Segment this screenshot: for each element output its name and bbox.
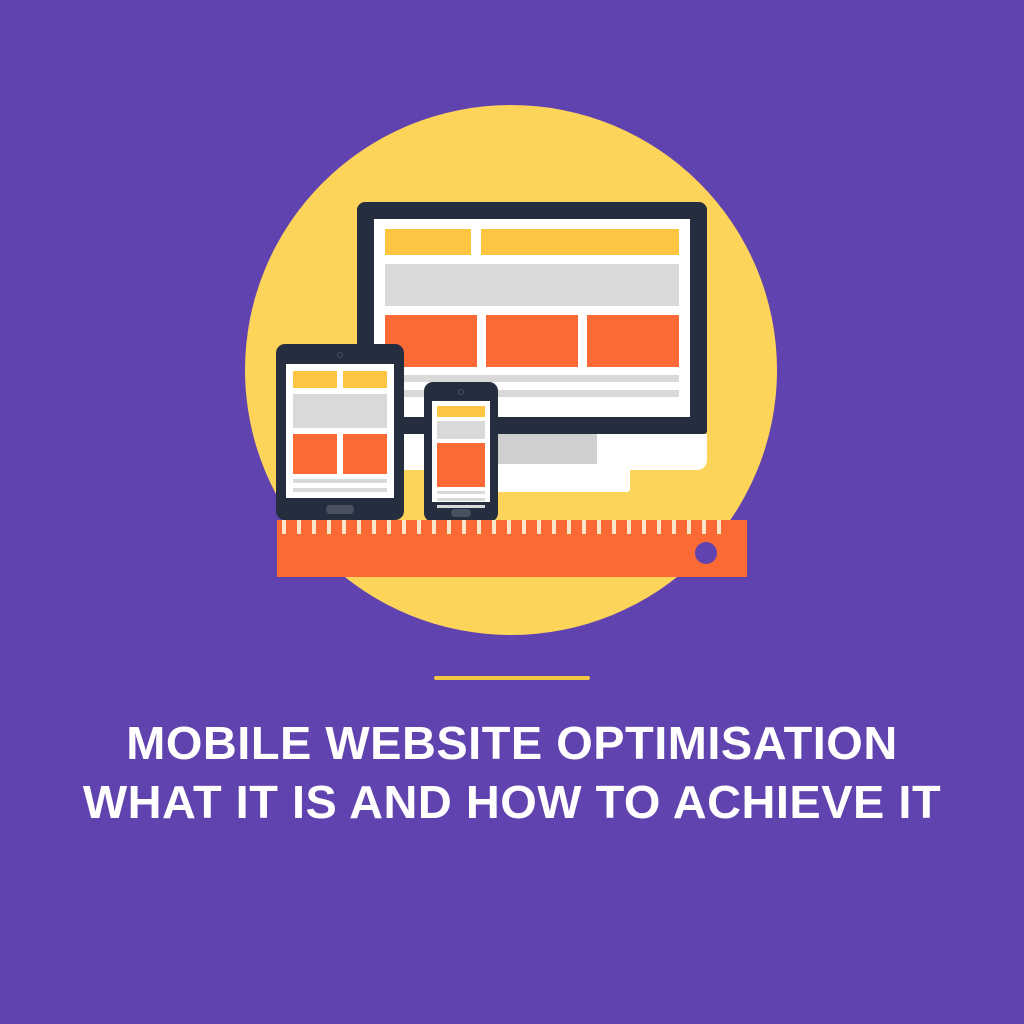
monitor-top-bar-row	[385, 229, 679, 255]
ruler-tick	[492, 520, 496, 534]
tablet-card-row	[293, 434, 387, 474]
gold-divider-rule	[434, 676, 590, 680]
orange-card-2	[343, 434, 387, 474]
ruler-tick	[402, 520, 406, 534]
home-button-icon	[451, 509, 471, 517]
gray-text-line-2	[293, 488, 387, 492]
ruler-tick	[342, 520, 346, 534]
ruler-tick	[417, 520, 421, 534]
poster-canvas: MOBILE WEBSITE OPTIMISATION WHAT IT IS A…	[0, 0, 1024, 1024]
ruler-tick	[462, 520, 466, 534]
ruler-tick	[477, 520, 481, 534]
yellow-bar-wide	[481, 229, 679, 255]
title-line-2: WHAT IT IS AND HOW TO ACHIEVE IT	[0, 773, 1024, 832]
ruler-tick	[597, 520, 601, 534]
ruler-tick	[657, 520, 661, 534]
smartphone-device	[424, 382, 498, 522]
gray-text-line-1	[385, 375, 679, 382]
monitor-bezel	[357, 202, 707, 434]
title-line-1: MOBILE WEBSITE OPTIMISATION	[0, 714, 1024, 773]
ruler-tick	[327, 520, 331, 534]
ruler-tick	[282, 520, 286, 534]
ruler-tick	[507, 520, 511, 534]
yellow-bar	[437, 406, 485, 417]
camera-icon	[337, 352, 343, 358]
phone-screen	[432, 401, 490, 502]
ruler-tick	[627, 520, 631, 534]
orange-card-2	[486, 315, 578, 367]
ruler-tick	[612, 520, 616, 534]
ruler-tick-marks	[277, 520, 747, 536]
orange-ruler	[277, 520, 747, 577]
ruler-tick	[297, 520, 301, 534]
gray-text-line-1	[437, 491, 485, 494]
ruler-tick	[357, 520, 361, 534]
ruler-tick	[387, 520, 391, 534]
desktop-monitor	[357, 202, 707, 490]
tablet-screen	[286, 364, 394, 498]
ruler-tick	[672, 520, 676, 534]
orange-card-1	[437, 443, 485, 487]
gray-hero-block	[385, 264, 679, 306]
gray-hero-block	[437, 421, 485, 439]
gray-text-line-3	[437, 505, 485, 508]
yellow-bar-small	[385, 229, 471, 255]
ruler-tick	[372, 520, 376, 534]
orange-card-3	[587, 315, 679, 367]
monitor-screen	[374, 219, 690, 417]
hero-illustration	[0, 0, 1024, 660]
yellow-bar-left	[293, 371, 337, 388]
ruler-hole	[695, 542, 717, 564]
ruler-tick	[702, 520, 706, 534]
ruler-tick	[432, 520, 436, 534]
tablet-top-bar-row	[293, 371, 387, 388]
home-button-icon	[326, 505, 354, 514]
ruler-tick	[567, 520, 571, 534]
ruler-tick	[717, 520, 721, 534]
tablet-device	[276, 344, 404, 520]
ruler-tick	[522, 520, 526, 534]
poster-title: MOBILE WEBSITE OPTIMISATION WHAT IT IS A…	[0, 714, 1024, 832]
gray-hero-block	[293, 394, 387, 428]
ruler-tick	[537, 520, 541, 534]
orange-card-1	[293, 434, 337, 474]
ruler-tick	[552, 520, 556, 534]
ruler-tick	[582, 520, 586, 534]
ruler-tick	[687, 520, 691, 534]
yellow-bar-right	[343, 371, 387, 388]
gray-text-line-2	[437, 498, 485, 501]
monitor-card-row	[385, 315, 679, 367]
ruler-tick	[312, 520, 316, 534]
gray-text-line-1	[293, 479, 387, 483]
camera-icon	[458, 389, 464, 395]
ruler-tick	[447, 520, 451, 534]
ruler-tick	[642, 520, 646, 534]
